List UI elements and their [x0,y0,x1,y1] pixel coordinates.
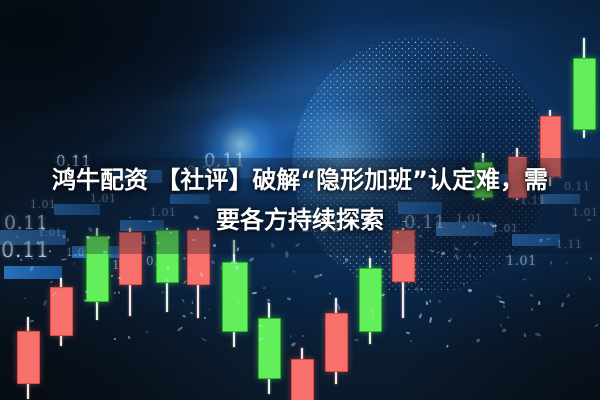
particle-speck [538,301,541,305]
particle-speck [118,290,120,293]
particle-speck [429,300,431,303]
candlestick-down [17,317,38,399]
particle-speck [425,301,428,305]
particle-speck [157,242,160,244]
candlestick-down [325,298,346,384]
candlestick-up [573,38,594,138]
title-line-1: 鸿牛配资 【社评】破解“隐形加班”认定难，需 [52,166,548,194]
title-line-2: 要各方持续探索 [0,200,600,240]
candle-body [573,58,596,130]
particle-speck [114,292,116,294]
candle-body [291,359,314,400]
particle-speck [437,300,440,304]
particle-speck [231,261,237,264]
candle-body [359,268,382,332]
particle-speck [236,299,240,303]
candlestick-up [222,240,246,347]
candlestick-down [50,278,71,346]
candle-body [222,262,248,332]
candlestick-up [258,303,279,394]
particle-speck [129,217,131,218]
particle-speck [103,250,107,253]
candlestick-down [291,348,312,400]
particle-speck [183,257,186,260]
particle-speck [58,294,60,296]
particle-speck [127,336,130,339]
banner-image: 0.110.110.111.011.011.011.011.111.011.01… [0,0,600,400]
particle-speck [67,238,69,242]
candlestick-up [359,258,380,344]
particle-speck [213,244,216,247]
particle-speck [550,260,551,264]
particle-speck [16,235,18,237]
particle-speck [468,288,472,291]
particle-speck [166,266,169,270]
candle-body [17,331,40,384]
particle-speck [118,276,121,278]
particle-speck [420,287,423,290]
particle-speck [161,290,164,293]
candle-body [325,313,348,372]
